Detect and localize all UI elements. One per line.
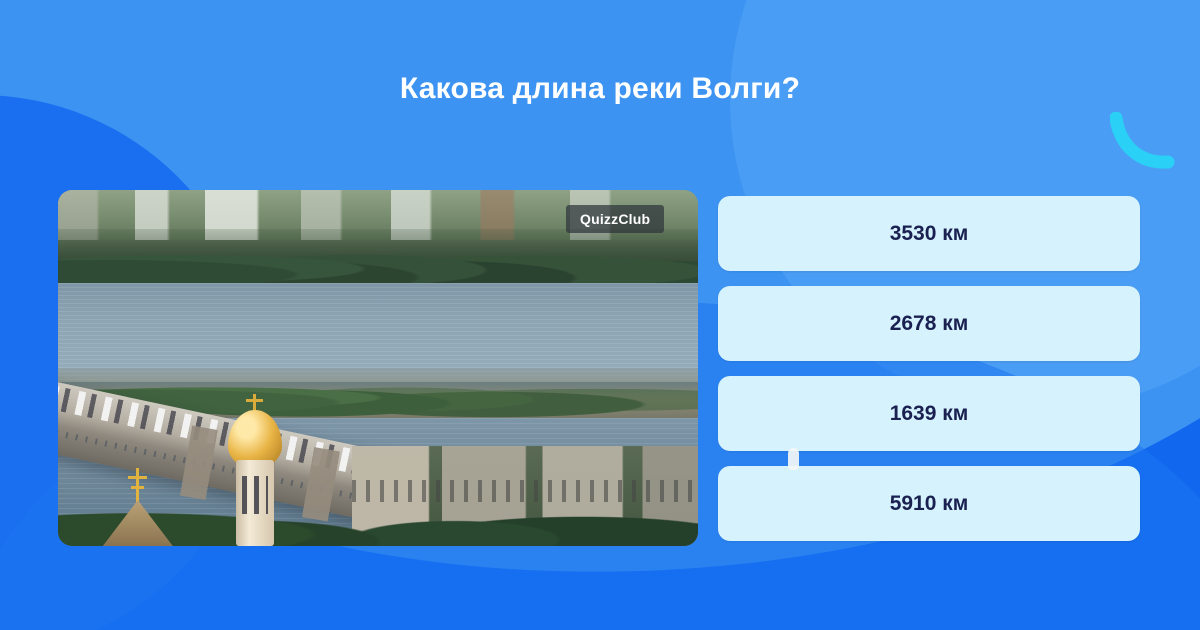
quiz-card: Какова длина реки Волги? [0,0,1200,630]
answer-option-3-label: 1639 км [890,402,969,426]
answer-option-4-label: 5910 км [890,492,969,516]
answer-option-1-label: 3530 км [890,222,969,246]
image-far-trees [58,229,698,286]
image-church-side-spire [103,454,173,546]
page-title: Какова длина реки Волги? [0,72,1200,106]
answer-option-4[interactable]: 5910 км [718,466,1140,541]
cyan-swoosh-icon [1110,112,1182,174]
cursor-pointer [788,448,799,470]
church-drum-shape [236,460,274,546]
image-church-golden-dome [224,396,286,546]
watermark-label: QuizzClub [566,205,664,233]
answer-option-3[interactable]: 1639 км [718,376,1140,451]
answer-option-2-label: 2678 км [890,312,969,336]
answer-option-2[interactable]: 2678 км [718,286,1140,361]
question-image: QuizzClub [58,190,698,546]
answer-option-1[interactable]: 3530 км [718,196,1140,271]
answer-options-list: 3530 км 2678 км 1639 км 5910 км [718,196,1140,541]
spire-roof-shape [103,500,173,546]
question-image-scene [58,190,698,546]
cross-icon [136,468,139,502]
